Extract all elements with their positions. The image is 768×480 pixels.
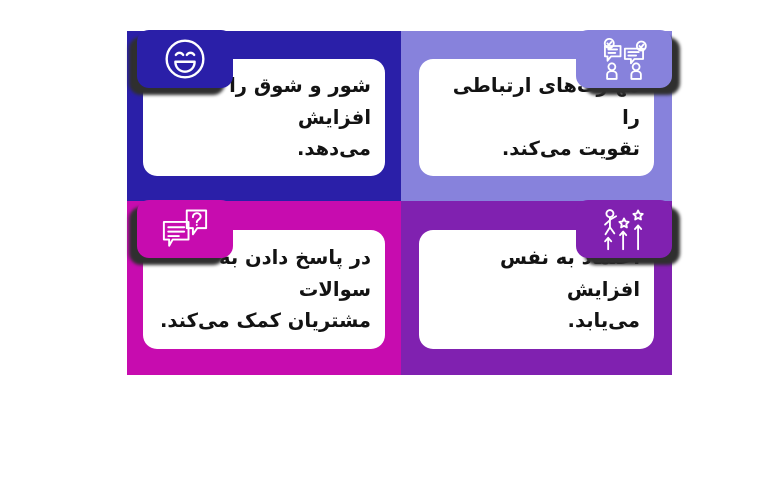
benefit-card-enthusiasm[interactable]: شور و شوق را افزایش می‌دهد.	[127, 31, 401, 201]
smiling-face-icon	[137, 30, 233, 88]
benefit-card-self-confidence[interactable]: اعتماد به نفس افزایش می‌یابد.	[401, 201, 672, 375]
benefit-card-communication-skills[interactable]: مهارت‌های ارتباطی را تقویت می‌کند.	[401, 31, 672, 201]
benefits-grid: شور و شوق را افزایش می‌دهد.	[127, 31, 672, 375]
two-people-chat-icon	[576, 30, 672, 88]
benefit-card-customer-questions[interactable]: در پاسخ دادن به سوالات مشتریان کمک می‌کن…	[127, 201, 401, 375]
person-climbing-arrows-stars-icon	[576, 200, 672, 258]
question-chat-bubbles-icon	[137, 200, 233, 258]
